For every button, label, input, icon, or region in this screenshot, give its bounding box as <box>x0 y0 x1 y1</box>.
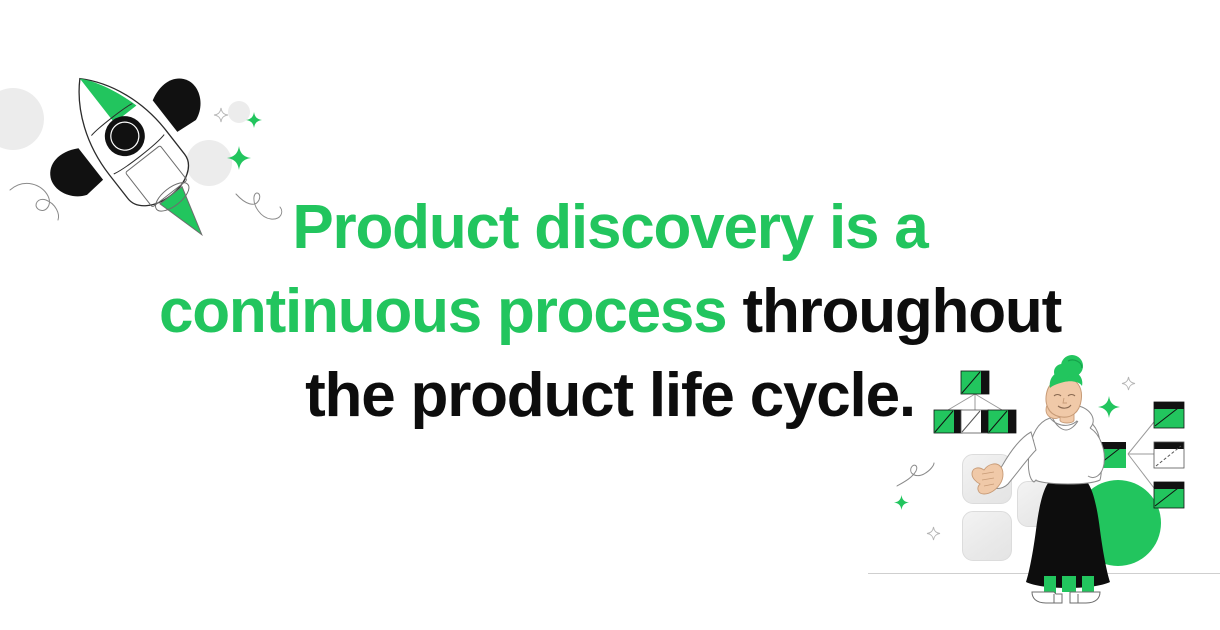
headline-line-3: the product life cycle. <box>0 354 1220 438</box>
headline-accent-2: continuous process <box>159 277 727 346</box>
page-title: Product discovery is a continuous proces… <box>0 186 1220 438</box>
sparkle-outline-3 <box>926 526 941 541</box>
sparkle-green-4 <box>894 495 909 510</box>
headline-dark-3: the product life cycle. <box>305 361 915 430</box>
squiggle-3 <box>896 462 938 492</box>
headline-accent-1: Product discovery is a <box>292 193 927 262</box>
headline-dark-2: throughout <box>726 277 1061 346</box>
headline-line-1: Product discovery is a <box>0 186 1220 270</box>
headline-line-2: continuous process throughout <box>0 270 1220 354</box>
poster-canvas: Product discovery is a continuous proces… <box>0 0 1220 630</box>
sparkle-green-1 <box>246 112 262 128</box>
